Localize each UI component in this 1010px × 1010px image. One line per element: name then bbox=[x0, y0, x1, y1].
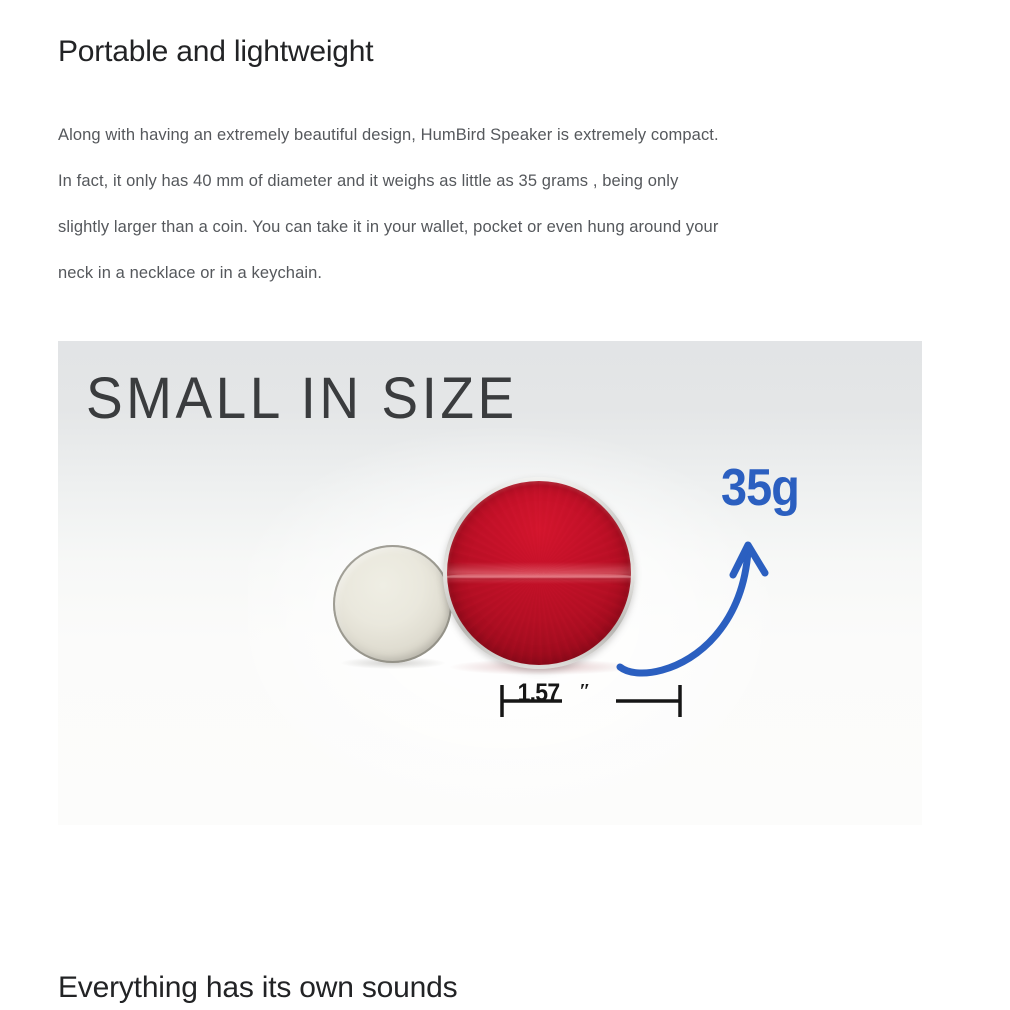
paragraph-line: Along with having an extremely beautiful… bbox=[58, 112, 928, 158]
coin-rim bbox=[333, 545, 452, 663]
product-size-banner: SMALL IN SIZE 35g 1.57 ″ bbox=[58, 341, 922, 825]
intro-paragraph: Along with having an extremely beautiful… bbox=[58, 112, 928, 296]
paragraph-line: neck in a necklace or in a keychain. bbox=[58, 250, 928, 296]
banner-title: SMALL IN SIZE bbox=[86, 369, 518, 427]
page-title: Portable and lightweight bbox=[58, 35, 373, 69]
paragraph-line: In fact, it only has 40 mm of diameter a… bbox=[58, 158, 928, 204]
curved-arrow-icon bbox=[606, 517, 796, 677]
next-section-title: Everything has its own sounds bbox=[58, 971, 457, 1005]
coin-image bbox=[333, 545, 452, 663]
paragraph-line: slightly larger than a coin. You can tak… bbox=[58, 204, 928, 250]
speaker-seam-highlight bbox=[447, 573, 631, 581]
weight-callout-label: 35g bbox=[721, 462, 799, 514]
article-page: Portable and lightweight Along with havi… bbox=[0, 0, 1010, 1010]
dimension-unit: ″ bbox=[579, 679, 591, 703]
dimension-value: 1.57 bbox=[504, 681, 573, 705]
